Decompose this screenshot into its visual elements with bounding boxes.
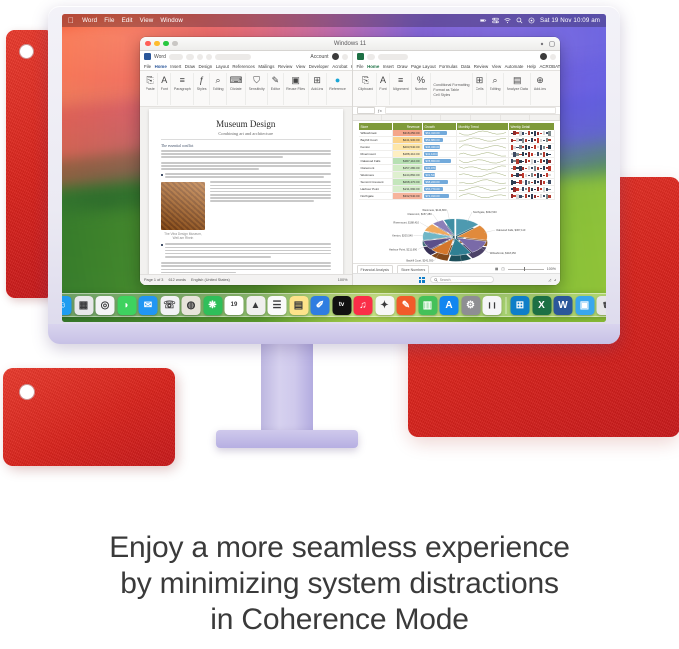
formula-bar[interactable] — [385, 107, 556, 115]
table-header-row: StoreRevenueGrowthMonthly TrendWeekly De… — [359, 123, 555, 130]
cell-store-name[interactable]: Rivermount — [359, 151, 393, 158]
dock-item-trash[interactable]: 🗑 — [597, 296, 607, 315]
heatmap-bar — [534, 160, 536, 163]
cell-sparkline[interactable] — [457, 130, 509, 137]
ribbon-group-font[interactable]: A Font — [158, 73, 171, 105]
sheet-tab-store-numbers[interactable]: Store Numbers — [397, 265, 429, 273]
ribbon-group-voice[interactable]: ⌨ Dictate — [227, 73, 246, 105]
share-icon[interactable] — [342, 54, 348, 60]
windows-taskbar[interactable]: Search ◿ ◕ — [353, 273, 561, 285]
dock-item-excel[interactable]: X — [532, 296, 551, 315]
table-row[interactable]: Westmere$144,860.00$31,540.00 — [359, 172, 555, 179]
paste-icon: ⎘ — [362, 75, 369, 86]
heatmap-bar — [548, 166, 550, 171]
dock-item-music[interactable]: ♫ — [354, 296, 373, 315]
cell-sparkline[interactable] — [457, 172, 509, 179]
heatmap-bar — [516, 159, 518, 164]
heatmap-bar — [531, 147, 533, 148]
avatar[interactable] — [540, 53, 547, 60]
heatmap-bar — [513, 166, 515, 170]
network-icon[interactable]: ◿ — [548, 278, 551, 282]
status-zoom[interactable]: 100% — [338, 278, 348, 282]
dock-item-notes[interactable]: ▤ — [289, 296, 308, 315]
tab-mailings[interactable]: Mailings — [258, 64, 274, 69]
heatmap-bar — [519, 166, 521, 171]
menu-bar-status-area[interactable]: Sat 19 Nov 10:09 am — [480, 17, 600, 24]
heatmap-bar — [513, 181, 515, 184]
column-header-cell[interactable]: Monthly Trend — [457, 123, 509, 130]
heatmap-bar — [522, 132, 524, 135]
tab-view[interactable]: View — [296, 64, 305, 69]
heatmap-bar — [537, 181, 539, 183]
dock-item-safari[interactable]: ◎ — [96, 296, 115, 315]
menu-item-view[interactable]: View — [140, 17, 154, 24]
heatmap-bar — [519, 189, 521, 190]
heatmap-bar — [534, 131, 536, 136]
tab-home[interactable]: Home — [155, 64, 167, 69]
word-document-scroll-area[interactable]: Museum Design Combining art and architec… — [140, 107, 352, 274]
imac-screen:  Word File Edit View Window Sat 19 Nov … — [62, 14, 606, 322]
ribbon-group-addins[interactable]: ⊞ Add-ins — [309, 73, 327, 105]
view-normal-icon[interactable]: ▦ — [495, 267, 498, 271]
heatmap-bar — [525, 133, 527, 134]
siri-icon[interactable] — [528, 17, 535, 24]
menu-bar-clock[interactable]: Sat 19 Nov 10:09 am — [540, 17, 600, 24]
taskbar-search-input[interactable]: Search — [430, 276, 494, 283]
messages-icon: ◗ — [123, 300, 129, 311]
cell-store-name[interactable]: Summit Crescent — [359, 179, 393, 186]
word-application[interactable]: Word Account File — [140, 51, 353, 285]
word-document-page[interactable]: Museum Design Combining art and architec… — [149, 109, 343, 274]
cell-heatmap[interactable] — [509, 158, 555, 165]
cell-sparkline[interactable] — [457, 165, 509, 172]
imac-stand-neck — [261, 338, 313, 434]
cell-sparkline[interactable] — [457, 186, 509, 193]
heatmap-bar — [531, 182, 533, 183]
dock-item-systemsettings[interactable]: ⚙ — [461, 296, 480, 315]
sheet-tab-financial-analysis[interactable]: Financial Analysis — [357, 265, 394, 273]
column-header[interactable] — [501, 115, 531, 120]
sparkline-svg — [459, 186, 506, 192]
dock-item-contacts[interactable]: ▲ — [246, 296, 265, 315]
heatmap-bar — [525, 180, 527, 185]
cell-store-name[interactable]: Claremont — [359, 165, 393, 172]
macos-dock[interactable]: ☺▦◎◗✉☏◍❋19▲☰▤✐tv♫✦✎▥A⚙❙❙⊞XW▣🗑 — [62, 293, 606, 317]
table-row[interactable]: Rivermount$188,410.00$41,120.00 — [359, 151, 555, 158]
wifi-icon[interactable] — [504, 17, 511, 24]
battery-icon[interactable] — [480, 17, 487, 24]
dock-item-finder[interactable]: ☺ — [62, 296, 72, 315]
heatmap-bar — [511, 153, 513, 155]
heatmap-bar — [513, 146, 515, 149]
excel-worksheet[interactable]: StoreRevenueGrowthMonthly TrendWeekly De… — [353, 115, 561, 263]
share-icon[interactable] — [550, 54, 556, 60]
heatmap-bar — [534, 139, 536, 141]
heatmap-bar — [516, 182, 518, 183]
cell-growth-databar[interactable]: $61,410.00 — [423, 130, 457, 137]
column-header[interactable] — [412, 115, 442, 120]
heatmap-bar — [540, 133, 542, 134]
cell-revenue[interactable]: $157,280.00 — [393, 165, 423, 172]
tab-file[interactable]: File — [144, 64, 151, 69]
tab-draw[interactable]: Draw — [397, 64, 407, 69]
dock-item-appstore[interactable]: A — [440, 296, 459, 315]
cell-sparkline[interactable] — [457, 151, 509, 158]
heatmap-bar — [531, 132, 533, 134]
ribbon-group-mendeley[interactable]: ● Reference — [327, 73, 349, 105]
tab-file[interactable]: File — [357, 64, 364, 69]
heatmap-bar — [528, 181, 530, 184]
dock-item-parallels[interactable]: ❙❙ — [483, 296, 502, 315]
name-box[interactable] — [357, 107, 375, 115]
table-row[interactable]: Oakwood Falls$367,110.00$78,650.00 — [359, 158, 555, 165]
column-header-cell[interactable]: Weekly Detail — [509, 123, 555, 130]
table-row[interactable]: Bayhill Court$241,930.00$52,880.00 — [359, 137, 555, 144]
ribbon-group-clipboard[interactable]: ⎘ Paste — [143, 73, 158, 105]
view-layout-icon[interactable]: ◫ — [501, 267, 504, 271]
ribbon-label: Conditional Formatting — [433, 83, 469, 87]
heatmap-bar — [511, 174, 513, 177]
ribbon-group-cells[interactable]: ⊞ Cells — [473, 73, 487, 105]
heatmap-bar — [525, 139, 527, 142]
document-title-chip[interactable] — [215, 54, 251, 60]
appstore-icon: A — [445, 300, 452, 311]
imac-chin — [48, 324, 620, 344]
pie-slices — [422, 219, 487, 262]
ribbon-group-styles[interactable]: ƒ Styles — [194, 73, 210, 105]
dock-item-keynote[interactable]: ✦ — [375, 296, 394, 315]
heatmap-bar — [546, 132, 548, 134]
dock-item-facetime[interactable]: ☏ — [160, 296, 179, 315]
tab-layout[interactable]: Layout — [216, 64, 229, 69]
reveal-icon[interactable] — [539, 41, 545, 47]
heatmap-bar — [537, 167, 539, 170]
cell-growth-databar[interactable]: $55,770.00 — [423, 186, 457, 193]
dock-item-numbers[interactable]: ▥ — [418, 296, 437, 315]
document-paragraph — [161, 150, 331, 158]
tab-home[interactable]: Home — [367, 64, 379, 69]
heatmap-bar — [534, 180, 536, 184]
autosave-toggle[interactable] — [169, 54, 183, 60]
data-bar-value: $55,770.00 — [425, 187, 440, 191]
tab-formulas[interactable]: Formulas — [439, 64, 457, 69]
ribbon-label: Clipboard — [358, 87, 373, 91]
ribbon-group-clipboard[interactable]: ⎘ Clipboard — [356, 73, 377, 105]
excel-ribbon-tabs[interactable]: File Home Insert Draw Page Layout Formul… — [353, 62, 561, 71]
heatmap-bar — [519, 145, 521, 149]
menu-item-file[interactable]: File — [104, 17, 114, 24]
cell-revenue[interactable]: $318,250.00 — [393, 130, 423, 137]
document-title: Museum Design — [161, 119, 331, 129]
dock-item-reminders[interactable]: ☰ — [268, 296, 287, 315]
data-bar-value: $68,220.00 — [425, 180, 440, 184]
cell-heatmap[interactable] — [509, 172, 555, 179]
table-row[interactable]: Summit Crescent$298,470.00$68,220.00 — [359, 179, 555, 186]
dock-item-freeform[interactable]: ✐ — [311, 296, 330, 315]
column-header[interactable] — [441, 115, 471, 120]
cell-revenue[interactable]: $367,110.00 — [393, 158, 423, 165]
volume-icon[interactable]: ◕ — [554, 278, 556, 282]
column-header[interactable] — [353, 115, 383, 120]
table-row[interactable]: Claremont$157,280.00$36,970.00 — [359, 165, 555, 172]
heatmap-bar — [531, 173, 533, 177]
tab-insert[interactable]: Insert — [383, 64, 394, 69]
excel-formula-bar-row[interactable]: ƒx — [353, 107, 561, 115]
cell-growth-databar[interactable]: $46,340.00 — [423, 144, 457, 151]
function-icon[interactable]: ƒx — [378, 108, 382, 113]
tab-data[interactable]: Data — [461, 64, 470, 69]
reminders-icon: ☰ — [273, 300, 282, 311]
autosave-label[interactable]: Word — [154, 54, 166, 60]
ribbon-group-analysis[interactable]: ▤ Analyze Data — [504, 73, 531, 105]
heatmap-bar — [516, 153, 518, 156]
heatmap-bar — [528, 166, 530, 170]
red-accessory-panel-left — [6, 30, 54, 298]
heatmap-bar — [522, 187, 524, 191]
column-header-cell[interactable]: Revenue — [393, 123, 423, 130]
zoom-slider[interactable] — [508, 269, 544, 270]
tab-design[interactable]: Design — [199, 64, 213, 69]
finder-icon: ☺ — [62, 300, 67, 311]
control-center-icon[interactable] — [492, 17, 499, 24]
column-headers[interactable] — [353, 115, 561, 121]
mail-icon: ✉ — [144, 300, 152, 311]
ribbon-label: Reuse Files — [286, 87, 305, 91]
excel-pie-chart[interactable]: Northgate, $332,540Oakwood Falls, $367,1… — [367, 197, 543, 263]
table-row[interactable]: Willowbrook$318,250.00$61,410.00 — [359, 130, 555, 137]
cell-heatmap[interactable] — [509, 165, 555, 172]
heatmap-bar — [516, 167, 518, 169]
cell-revenue[interactable]: $144,860.00 — [393, 172, 423, 179]
tab-insert[interactable]: Insert — [170, 64, 181, 69]
column-header[interactable] — [382, 115, 412, 120]
ribbon-group-editor[interactable]: ✎ Editor — [268, 73, 283, 105]
cell-growth-databar[interactable]: $68,220.00 — [423, 179, 457, 186]
cell-sparkline[interactable] — [457, 137, 509, 144]
document-image[interactable] — [161, 182, 205, 230]
cell-sparkline[interactable] — [457, 144, 509, 151]
heatmap-bar — [546, 173, 548, 177]
data-bar-value: $72,310.00 — [425, 194, 440, 198]
windows-vm-window[interactable]: Windows 11 Word — [140, 37, 560, 285]
tab-view[interactable]: View — [492, 64, 501, 69]
heatmap-bar — [516, 147, 518, 148]
tab-automate[interactable]: Automate — [505, 64, 524, 69]
tab-acrobat-caps[interactable]: ACROBAT — [539, 64, 560, 69]
vm-window-titlebar[interactable]: Windows 11 — [140, 37, 560, 51]
cell-sparkline[interactable] — [457, 158, 509, 165]
avatar[interactable] — [332, 53, 339, 60]
tab-review[interactable]: Review — [474, 64, 488, 69]
cell-growth-databar[interactable]: $41,120.00 — [423, 151, 457, 158]
cell-revenue[interactable]: $298,470.00 — [393, 179, 423, 186]
dock-item-pages[interactable]: ✎ — [397, 296, 416, 315]
heatmap-bar — [534, 174, 536, 176]
save-icon[interactable] — [367, 54, 375, 60]
cell-store-name[interactable]: Bayhill Court — [359, 137, 393, 144]
cell-growth-databar[interactable]: $78,650.00 — [423, 158, 457, 165]
cell-growth-databar[interactable]: $52,880.00 — [423, 137, 457, 144]
column-header-cell[interactable]: Store — [359, 123, 393, 130]
undo-icon[interactable] — [197, 54, 203, 60]
dock-item-photos[interactable]: ❋ — [203, 296, 222, 315]
heatmap-bar — [546, 188, 548, 191]
editing-icon: ⌕ — [215, 75, 220, 86]
heatmap-bar — [525, 145, 527, 150]
cell-store-name[interactable]: Harbour Point — [359, 186, 393, 193]
dock-item-calendar[interactable]: 19 — [225, 296, 244, 315]
column-header[interactable] — [530, 115, 560, 120]
view-mode-icon[interactable] — [549, 41, 555, 47]
heatmap-bar — [522, 167, 524, 170]
ribbon-group-number[interactable]: % Number — [412, 73, 431, 105]
launchpad-icon: ▦ — [79, 300, 88, 311]
dock-item-mail[interactable]: ✉ — [139, 296, 158, 315]
excel-data-table[interactable]: StoreRevenueGrowthMonthly TrendWeekly De… — [359, 123, 555, 200]
vm-window-right-icons[interactable] — [539, 41, 555, 47]
paste-icon: ⎘ — [147, 75, 154, 86]
tab-acrobat[interactable]: Acrobat — [332, 64, 347, 69]
bullet-text — [165, 243, 331, 259]
ribbon-group-alignment[interactable]: ≡ Alignment — [390, 73, 412, 105]
word-ribbon-tabs[interactable]: File Home Insert Draw Design Layout Refe… — [140, 62, 352, 71]
cell-revenue[interactable]: $203,540.00 — [393, 144, 423, 151]
zoom-controls[interactable]: ▦ ◫ 100% — [495, 267, 556, 271]
ribbon-group-reuse-files[interactable]: ▣ Reuse Files — [284, 73, 309, 105]
heatmap-bar — [543, 152, 545, 157]
taskbar-system-tray[interactable]: ◿ ◕ — [548, 278, 556, 282]
cell-revenue[interactable]: $241,930.00 — [393, 137, 423, 144]
status-language: English (United States) — [191, 278, 230, 282]
excel-application[interactable]: File Home Insert Draw Page Layout Formul… — [353, 51, 561, 285]
heatmap-bar — [540, 188, 542, 190]
vm-window-body: Word Account File — [140, 51, 560, 285]
cell-revenue[interactable]: $188,410.00 — [393, 151, 423, 158]
workbook-title-chip[interactable] — [378, 54, 408, 60]
column-header[interactable] — [471, 115, 501, 120]
dock-item-word[interactable]: W — [554, 296, 573, 315]
tab-help[interactable]: Help — [351, 64, 352, 69]
ribbon-group-font[interactable]: A Font — [377, 73, 390, 105]
menu-item-edit[interactable]: Edit — [122, 17, 133, 24]
ribbon-group-addins[interactable]: ⊕ Add-ins — [531, 73, 548, 105]
cell-heatmap[interactable] — [509, 130, 555, 137]
cell-heatmap[interactable] — [509, 179, 555, 186]
redo-icon[interactable] — [206, 54, 212, 60]
editing-icon: ⌕ — [493, 75, 498, 86]
zoom-level[interactable]: 100% — [547, 267, 556, 271]
pie-slice-label: Willowbrook, $318,250 — [489, 251, 516, 255]
excel-quick-access-toolbar[interactable] — [353, 51, 561, 62]
cell-sparkline[interactable] — [457, 179, 509, 186]
heatmap-bar — [516, 132, 518, 134]
ribbon-label: Editing — [213, 87, 224, 91]
heatmap-bar — [522, 146, 524, 148]
word-status-bar[interactable]: Page 1 of 3 612 words English (United St… — [140, 274, 352, 285]
ribbon-group-editing[interactable]: ⌕ Editing — [487, 73, 504, 105]
cell-revenue[interactable]: $211,690.00 — [393, 186, 423, 193]
cell-growth-databar[interactable]: $36,970.00 — [423, 165, 457, 172]
document-paragraph — [161, 262, 331, 273]
search-icon — [434, 278, 438, 282]
heatmap-bar — [543, 175, 545, 176]
heatmap-bar — [540, 159, 542, 163]
heatmap-bar — [540, 139, 542, 142]
ribbon-group-paragraph[interactable]: ≡ Paragraph — [171, 73, 194, 105]
word-ribbon[interactable]: ⎘ Paste A Font ≡ Paragraph — [140, 71, 352, 107]
tab-developer[interactable]: Developer — [309, 64, 329, 69]
pie-slice-label: Rivermount, $188,410 — [393, 220, 419, 224]
dock-item-tv[interactable]: tv — [332, 296, 351, 315]
cell-heatmap[interactable] — [509, 137, 555, 144]
excel-ribbon[interactable]: ⎘ Clipboard A Font ≡ Alignment — [353, 71, 561, 107]
macos-menu-bar[interactable]:  Word File Edit View Window Sat 19 Nov … — [62, 14, 606, 27]
tab-page-layout[interactable]: Page Layout — [411, 64, 436, 69]
safari-icon: ◎ — [101, 300, 110, 311]
cell-heatmap[interactable] — [509, 151, 555, 158]
save-icon[interactable] — [186, 54, 194, 60]
tab-draw[interactable]: Draw — [185, 64, 195, 69]
cell-store-name[interactable]: Oakwood Falls — [359, 158, 393, 165]
heatmap-bar — [548, 154, 550, 155]
word-quick-access-toolbar[interactable]: Word Account — [140, 51, 352, 62]
parallels-icon: ❙❙ — [487, 302, 497, 309]
heatmap-bar — [511, 168, 513, 169]
dock-item-launchpad[interactable]: ▦ — [74, 296, 93, 315]
pie-slice-label: Northgate, $332,540 — [473, 210, 497, 214]
heatmap-bar — [516, 138, 518, 142]
tab-review[interactable]: Review — [278, 64, 292, 69]
cell-store-name[interactable]: Willowbrook — [359, 130, 393, 137]
word-icon: W — [558, 300, 567, 311]
account-label[interactable]: Account — [310, 54, 328, 60]
alignment-icon: ≡ — [398, 75, 403, 86]
caption-line-2: by minimizing system distractions — [0, 566, 679, 602]
column-header-cell[interactable]: Growth — [423, 123, 457, 130]
menu-item-window[interactable]: Window — [160, 17, 183, 24]
sparkline-svg — [459, 151, 506, 157]
table-row[interactable]: Kenton$203,540.00$46,340.00 — [359, 144, 555, 151]
heatmap-bar — [537, 161, 539, 162]
table-row[interactable]: Harbour Point$211,690.00$55,770.00 — [359, 186, 555, 193]
tv-icon: tv — [339, 302, 344, 308]
search-icon[interactable] — [516, 17, 523, 24]
dock-item-maps[interactable]: ◍ — [182, 296, 201, 315]
ribbon-group-styles[interactable]: Conditional Formatting Format as Table C… — [431, 73, 473, 105]
dock-item-windows[interactable]: ⊞ — [511, 296, 530, 315]
cells-icon: ⊞ — [476, 75, 484, 86]
cell-growth-databar[interactable]: $31,540.00 — [423, 172, 457, 179]
menu-item-app[interactable]: Word — [82, 17, 97, 24]
ribbon-group-sensitivity[interactable]: ⛉ Sensitivity — [246, 73, 268, 105]
cell-store-name[interactable]: Westmere — [359, 172, 393, 179]
paragraph-icon: ≡ — [180, 75, 185, 86]
heatmap-bar — [537, 146, 539, 148]
tab-references[interactable]: References — [232, 64, 254, 69]
cell-heatmap[interactable] — [509, 186, 555, 193]
data-bar-value: $61,410.00 — [425, 131, 440, 135]
tab-help[interactable]: Help — [527, 64, 536, 69]
apple-logo-icon[interactable]:  — [68, 17, 74, 25]
dock-item-screenshot[interactable]: ▣ — [575, 296, 594, 315]
cell-heatmap[interactable] — [509, 144, 555, 151]
dock-item-messages[interactable]: ◗ — [117, 296, 136, 315]
cell-store-name[interactable]: Kenton — [359, 144, 393, 151]
ribbon-group-editing[interactable]: ⌕ Editing — [210, 73, 227, 105]
ribbon-label: Dictate — [230, 87, 241, 91]
pie-leader-line — [432, 214, 438, 223]
start-button-icon[interactable] — [419, 277, 425, 283]
